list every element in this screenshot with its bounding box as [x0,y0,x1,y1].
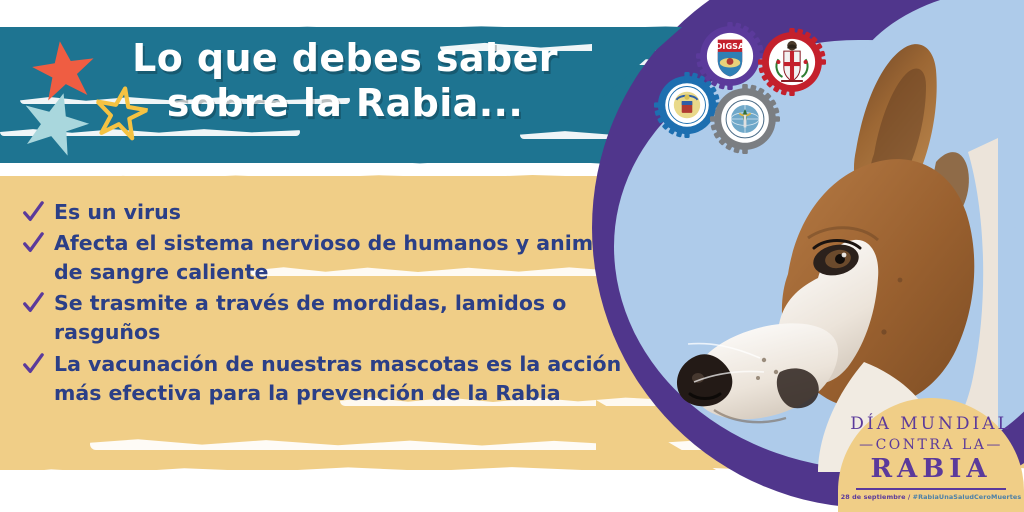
page-title: Lo que debes saber sobre la Rabia... [120,36,570,126]
check-icon [22,352,44,376]
title-line-2: sobre la Rabia... [120,81,570,126]
digsa-emblem: DIGSA [696,22,764,90]
badge-divider [856,488,1006,490]
badge-line-3: RABIA [838,454,1024,484]
list-item-label: Se trasmite a través de mordidas, lamido… [54,289,642,347]
institutional-logos: DIGSA [648,22,848,170]
health-emblem [710,84,780,154]
list-item-label: Afecta el sistema nervioso de humanos y … [54,229,642,287]
list-item-label: Es un virus [54,198,642,227]
facts-list: Es un virus Afecta el sistema nervioso d… [22,198,642,410]
list-item: Es un virus [22,198,642,227]
list-item: Afecta el sistema nervioso de humanos y … [22,229,642,287]
badge-line-2: —CONTRA LA— [838,437,1024,453]
badge-subtitle: 28 de septiembre / #RabiaUnaSaludCeroMue… [838,493,1024,501]
rabies-awareness-poster: Lo que debes saber sobre la Rabia... Es … [0,0,1024,512]
badge-hashtag: #RabiaUnaSaludCeroMuertes [913,493,1022,501]
list-item: La vacunación de nuestras mascotas es la… [22,350,642,408]
world-rabies-day-badge: DÍA MUNDIAL —CONTRA LA— RABIA 28 de sept… [838,398,1024,512]
check-icon [22,200,44,224]
badge-content: DÍA MUNDIAL —CONTRA LA— RABIA 28 de sept… [838,414,1024,501]
check-icon [22,291,44,315]
badge-line-1: DÍA MUNDIAL [838,414,1024,434]
list-item: Se trasmite a través de mordidas, lamido… [22,289,642,347]
check-icon [22,231,44,255]
digsa-label: DIGSA [716,41,745,51]
title-line-1: Lo que debes saber [132,36,558,80]
list-item-label: La vacunación de nuestras mascotas es la… [54,350,642,408]
badge-date: 28 de septiembre / [841,493,911,501]
